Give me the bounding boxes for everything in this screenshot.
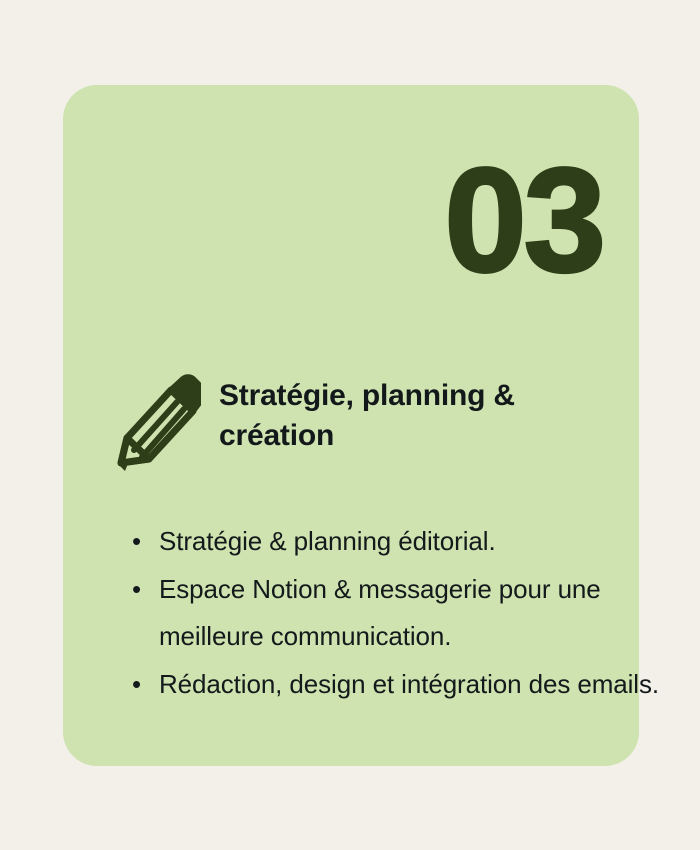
pencil-icon <box>105 368 201 478</box>
list-item-label: Rédaction, design et intégration des ema… <box>159 669 659 699</box>
step-card: 03 <box>63 85 639 766</box>
bullet-icon: • <box>132 566 142 613</box>
list-item: • Rédaction, design et intégration des e… <box>159 661 699 708</box>
list-item: • Stratégie & planning éditorial. <box>159 518 699 565</box>
bullet-icon: • <box>132 661 142 708</box>
page-root: 03 <box>0 0 700 850</box>
bullet-icon: • <box>132 518 142 565</box>
list-item-label: Stratégie & planning éditorial. <box>159 526 496 556</box>
step-number: 03 <box>444 147 603 295</box>
card-heading-row: Stratégie, planning & création <box>105 360 615 478</box>
list-item-label: Espace Notion & messagerie pour une meil… <box>159 574 601 651</box>
list-item: • Espace Notion & messagerie pour une me… <box>159 566 699 660</box>
card-title: Stratégie, planning & création <box>219 360 589 455</box>
feature-list: • Stratégie & planning éditorial. • Espa… <box>96 518 699 709</box>
